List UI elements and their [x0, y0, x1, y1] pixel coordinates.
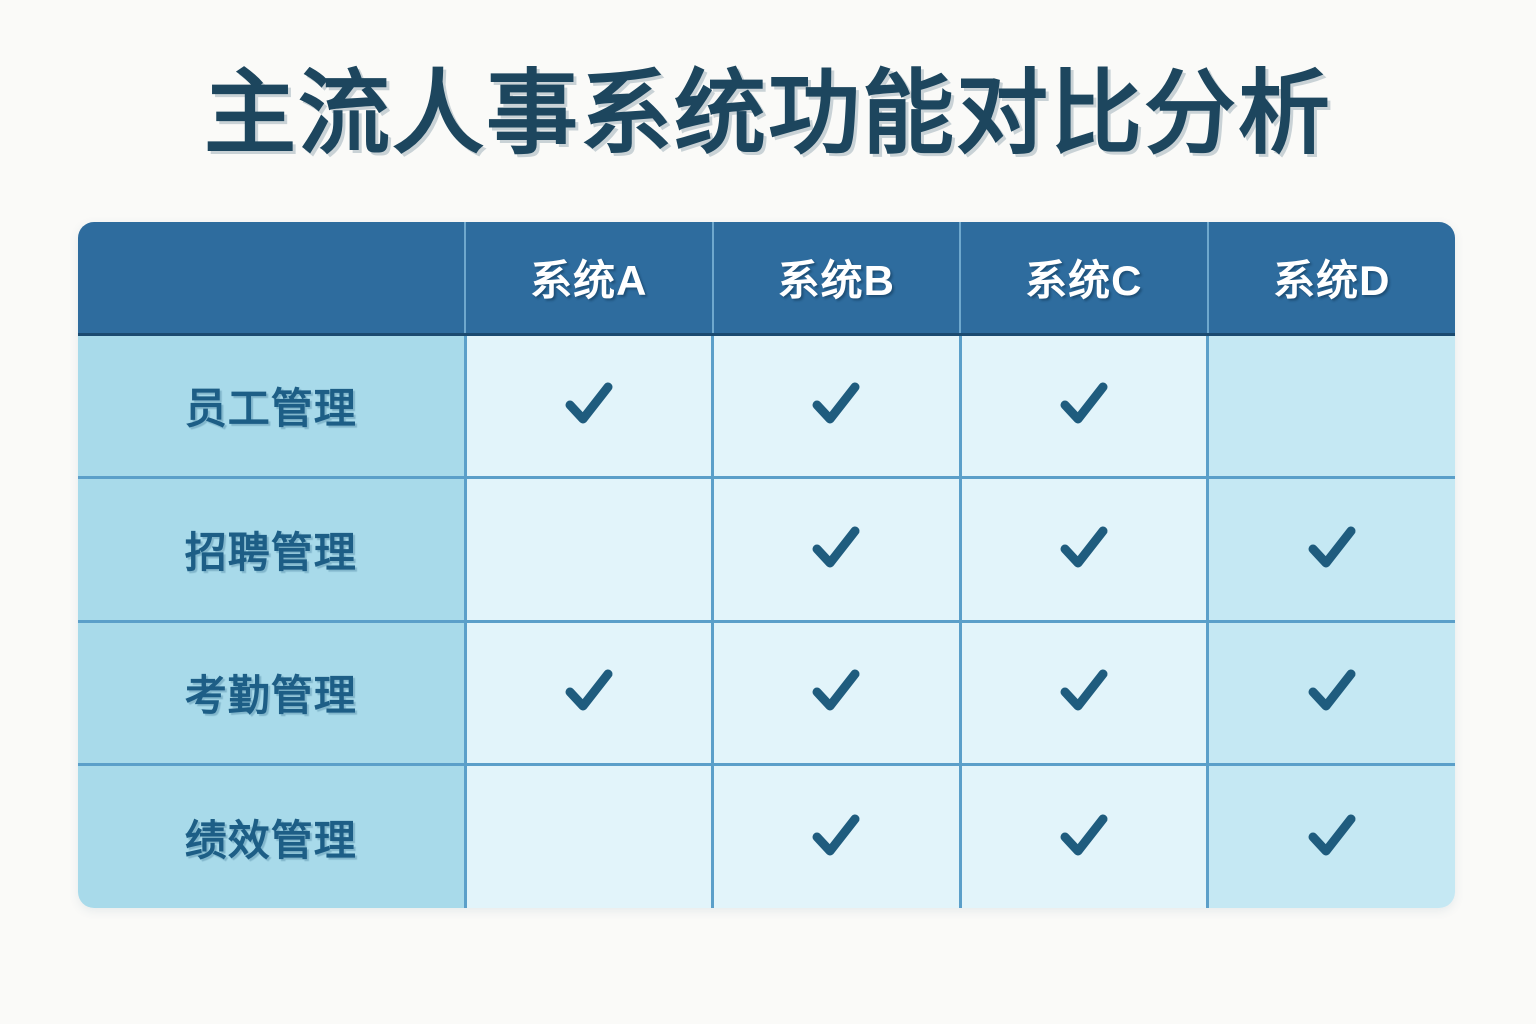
cell-employee-management-system-a — [465, 334, 713, 478]
table-row: 招聘管理 — [78, 478, 1455, 622]
cell-employee-management-system-c — [960, 334, 1208, 478]
cell-attendance-management-system-b — [713, 621, 961, 765]
column-header-system-b: 系统B — [713, 222, 961, 334]
cell-recruitment-management-system-a — [465, 478, 713, 622]
cell-attendance-management-system-a — [465, 621, 713, 765]
table-header: 系统A 系统B 系统C 系统D — [78, 222, 1455, 334]
header-row: 系统A 系统B 系统C 系统D — [78, 222, 1455, 334]
empty-cell-marker — [558, 516, 620, 578]
cell-recruitment-management-system-b — [713, 478, 961, 622]
row-label-performance-management: 绩效管理 — [78, 765, 465, 909]
cell-attendance-management-system-d — [1208, 621, 1456, 765]
column-header-system-a: 系统A — [465, 222, 713, 334]
table-row: 员工管理 — [78, 334, 1455, 478]
check-icon — [805, 659, 867, 721]
row-label-recruitment-management: 招聘管理 — [78, 478, 465, 622]
cell-recruitment-management-system-c — [960, 478, 1208, 622]
row-label-attendance-management: 考勤管理 — [78, 621, 465, 765]
check-icon — [805, 804, 867, 866]
cell-employee-management-system-b — [713, 334, 961, 478]
empty-cell-marker — [1301, 372, 1363, 434]
cell-employee-management-system-d — [1208, 334, 1456, 478]
row-label-employee-management: 员工管理 — [78, 334, 465, 478]
cell-performance-management-system-a — [465, 765, 713, 909]
cell-performance-management-system-d — [1208, 765, 1456, 909]
cell-performance-management-system-c — [960, 765, 1208, 909]
table-row: 绩效管理 — [78, 765, 1455, 909]
check-icon — [1053, 516, 1115, 578]
check-icon — [558, 372, 620, 434]
page-title: 主流人事系统功能对比分析 — [0, 62, 1536, 166]
check-icon — [1053, 372, 1115, 434]
matrix-table: 系统A 系统B 系统C 系统D 员工管理 — [78, 222, 1455, 908]
feature-comparison-table: 系统A 系统B 系统C 系统D 员工管理 — [78, 222, 1455, 908]
check-icon — [1053, 804, 1115, 866]
check-icon — [805, 516, 867, 578]
cell-performance-management-system-b — [713, 765, 961, 909]
check-icon — [1301, 659, 1363, 721]
column-header-system-d: 系统D — [1208, 222, 1456, 334]
cell-attendance-management-system-c — [960, 621, 1208, 765]
check-icon — [1301, 804, 1363, 866]
check-icon — [558, 659, 620, 721]
comparison-table-page: 主流人事系统功能对比分析 系统A 系统B 系统C 系统D 员工管理 — [0, 0, 1536, 1024]
cell-recruitment-management-system-d — [1208, 478, 1456, 622]
column-header-system-c: 系统C — [960, 222, 1208, 334]
check-icon — [1301, 516, 1363, 578]
table-body: 员工管理 — [78, 334, 1455, 908]
empty-cell-marker — [558, 804, 620, 866]
check-icon — [1053, 659, 1115, 721]
header-corner-cell — [78, 222, 465, 334]
check-icon — [805, 372, 867, 434]
table-row: 考勤管理 — [78, 621, 1455, 765]
